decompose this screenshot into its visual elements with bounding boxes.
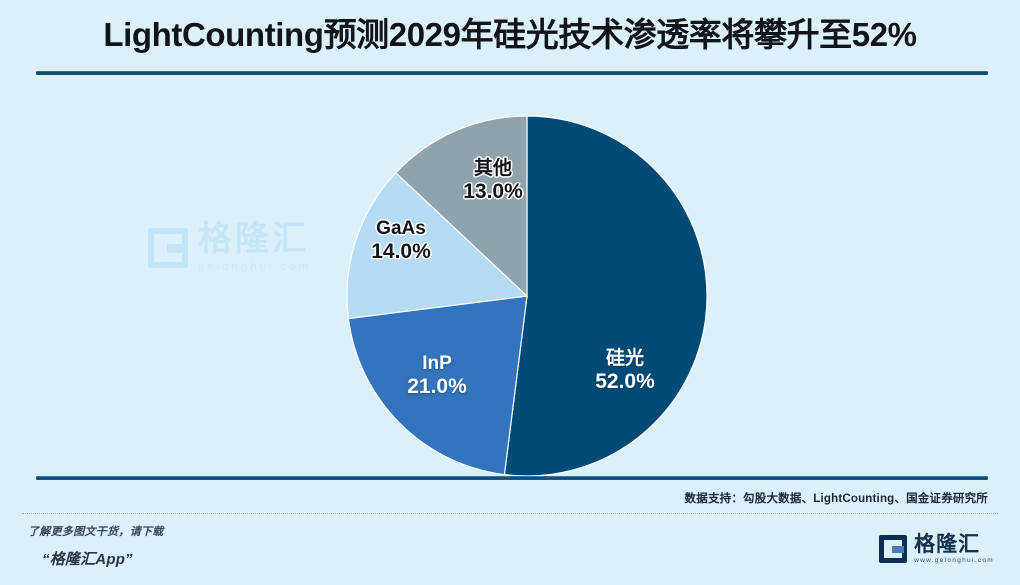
watermark-left-name: 格隆汇: [198, 222, 311, 256]
brand-url-text: www.gelonghui.com: [914, 558, 994, 565]
brand-logo: 格隆汇 www.gelonghui.com: [879, 534, 994, 565]
pie-slice: [348, 296, 527, 475]
source-divider: [36, 476, 988, 480]
watermark-left-url: gelonghui.com: [198, 261, 311, 273]
watermark-gelonghui: 格隆汇 gelonghui.com: [148, 222, 311, 273]
watermark-g-icon: [148, 228, 188, 268]
footer-promo-line-2: “格隆汇App”: [42, 548, 164, 569]
footer-promo: 了解更多图文干货，请下载 “格隆汇App”: [28, 523, 164, 569]
pie-slice-group: [347, 116, 707, 476]
page-title: LightCounting预测2029年硅光技术渗透率将攀升至52%: [0, 16, 1020, 55]
slide-canvas: LightCounting预测2029年硅光技术渗透率将攀升至52% 格隆汇 g…: [0, 0, 1020, 585]
title-divider: [36, 71, 988, 75]
footer-promo-line-1: 了解更多图文干货，请下载: [28, 523, 164, 539]
pie-chart: [347, 116, 707, 476]
brand-name-text: 格隆汇: [914, 534, 994, 555]
footer-dotted-divider: [22, 513, 998, 514]
pie-chart-svg: [347, 116, 707, 476]
gelonghui-g-icon: [879, 535, 907, 563]
source-attribution: 数据支持：勾股大数据、LightCounting、国金证券研究所: [685, 490, 988, 506]
chart-title-text: LightCounting预测2029年硅光技术渗透率将攀升至52%: [0, 16, 1020, 55]
pie-slice: [504, 116, 707, 476]
